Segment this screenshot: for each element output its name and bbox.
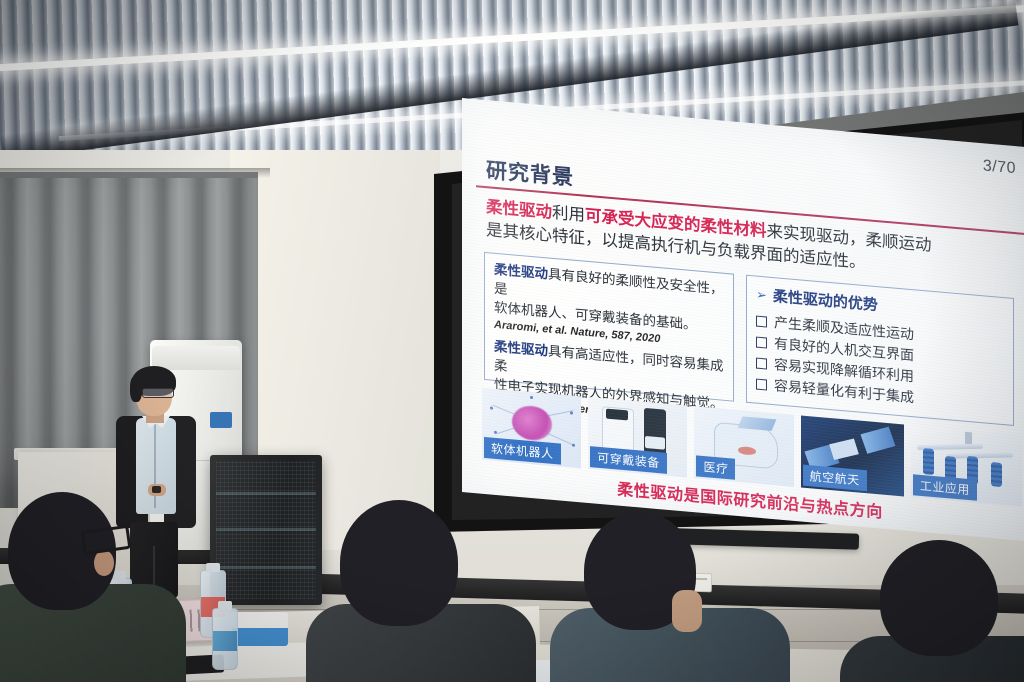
thumbnail-label: 航空航天	[803, 465, 867, 492]
evidence-2-bold: 柔性驱动	[494, 339, 548, 359]
audience-head	[340, 500, 458, 626]
exosuit-knee-icon	[645, 436, 665, 450]
presenter-hair-side	[130, 376, 142, 402]
audience-right	[560, 512, 760, 682]
square-bullet-icon	[756, 316, 767, 328]
square-bullet-icon	[756, 337, 767, 349]
thumbnail-aerospace: 航空航天	[801, 415, 904, 496]
presentation-slide: 3/70 研究背景 柔性驱动利用可承受大应变的柔性材料来实现驱动，柔顺运动 是其…	[462, 98, 1024, 542]
square-bullet-icon	[756, 379, 767, 391]
tissue-box	[232, 612, 288, 652]
gripper-plate-icon	[947, 452, 1013, 458]
bottle-cap	[206, 563, 220, 572]
thumbnail-industrial: 工业应用	[911, 425, 1022, 507]
thumbnail-wearable: 可穿戴装备	[588, 397, 687, 478]
audience-center	[320, 500, 520, 682]
lead-highlight-1: 柔性驱动	[486, 198, 552, 222]
audience-hand	[672, 590, 702, 632]
exosuit-band-icon	[606, 409, 628, 421]
audience-ear	[94, 550, 114, 576]
bottle-label	[213, 631, 237, 651]
thumbnail-label: 工业应用	[913, 474, 977, 501]
thumbnail-medical: 医疗	[694, 406, 793, 487]
audience-far-right	[860, 540, 1024, 682]
evidence-box: 柔性驱动具有良好的柔顺性及安全性，是 软体机器人、可穿戴装备的基础。 Araro…	[484, 252, 734, 402]
audience-glasses-icon	[81, 525, 132, 555]
bellows-actuator-icon	[923, 448, 934, 475]
advantages-box: ➢ 柔性驱动的优势 产生柔顺及适应性运动 有良好的人机交互界面	[746, 275, 1014, 426]
square-bullet-icon	[756, 358, 767, 370]
thumbnail-label: 软体机器人	[484, 437, 561, 465]
advantages-heading-label: 柔性驱动的优势	[773, 285, 878, 315]
bottle-cap	[218, 601, 232, 610]
audience-head	[880, 540, 998, 656]
slide-title: 研究背景	[486, 154, 574, 192]
evidence-1-bold: 柔性驱动	[494, 262, 548, 282]
gripper-stem-icon	[965, 432, 972, 445]
presenter-glasses-icon	[142, 388, 174, 398]
audience-front-left	[0, 492, 180, 682]
satellite-panel-icon	[860, 427, 895, 454]
air-conditioner-badge	[210, 412, 232, 428]
thumbnail-label: 医疗	[696, 455, 735, 479]
arrow-right-icon: ➢	[756, 286, 767, 303]
soft-robot-blob-icon	[512, 404, 552, 441]
thumbnail-soft-robot: 软体机器人	[482, 388, 581, 469]
bellows-actuator-icon	[991, 462, 1002, 487]
lead-mid: 利用	[552, 204, 585, 225]
projection-screen: 3/70 研究背景 柔性驱动利用可承受大应变的柔性材料来实现驱动，柔顺运动 是其…	[424, 112, 1024, 532]
slide-page-number: 3/70	[983, 157, 1016, 178]
water-bottle	[212, 608, 238, 670]
conference-room-scene: 3/70 研究背景 柔性驱动利用可承受大应变的柔性材料来实现驱动，柔顺运动 是其…	[0, 0, 1024, 682]
satellite-body-icon	[829, 438, 859, 460]
